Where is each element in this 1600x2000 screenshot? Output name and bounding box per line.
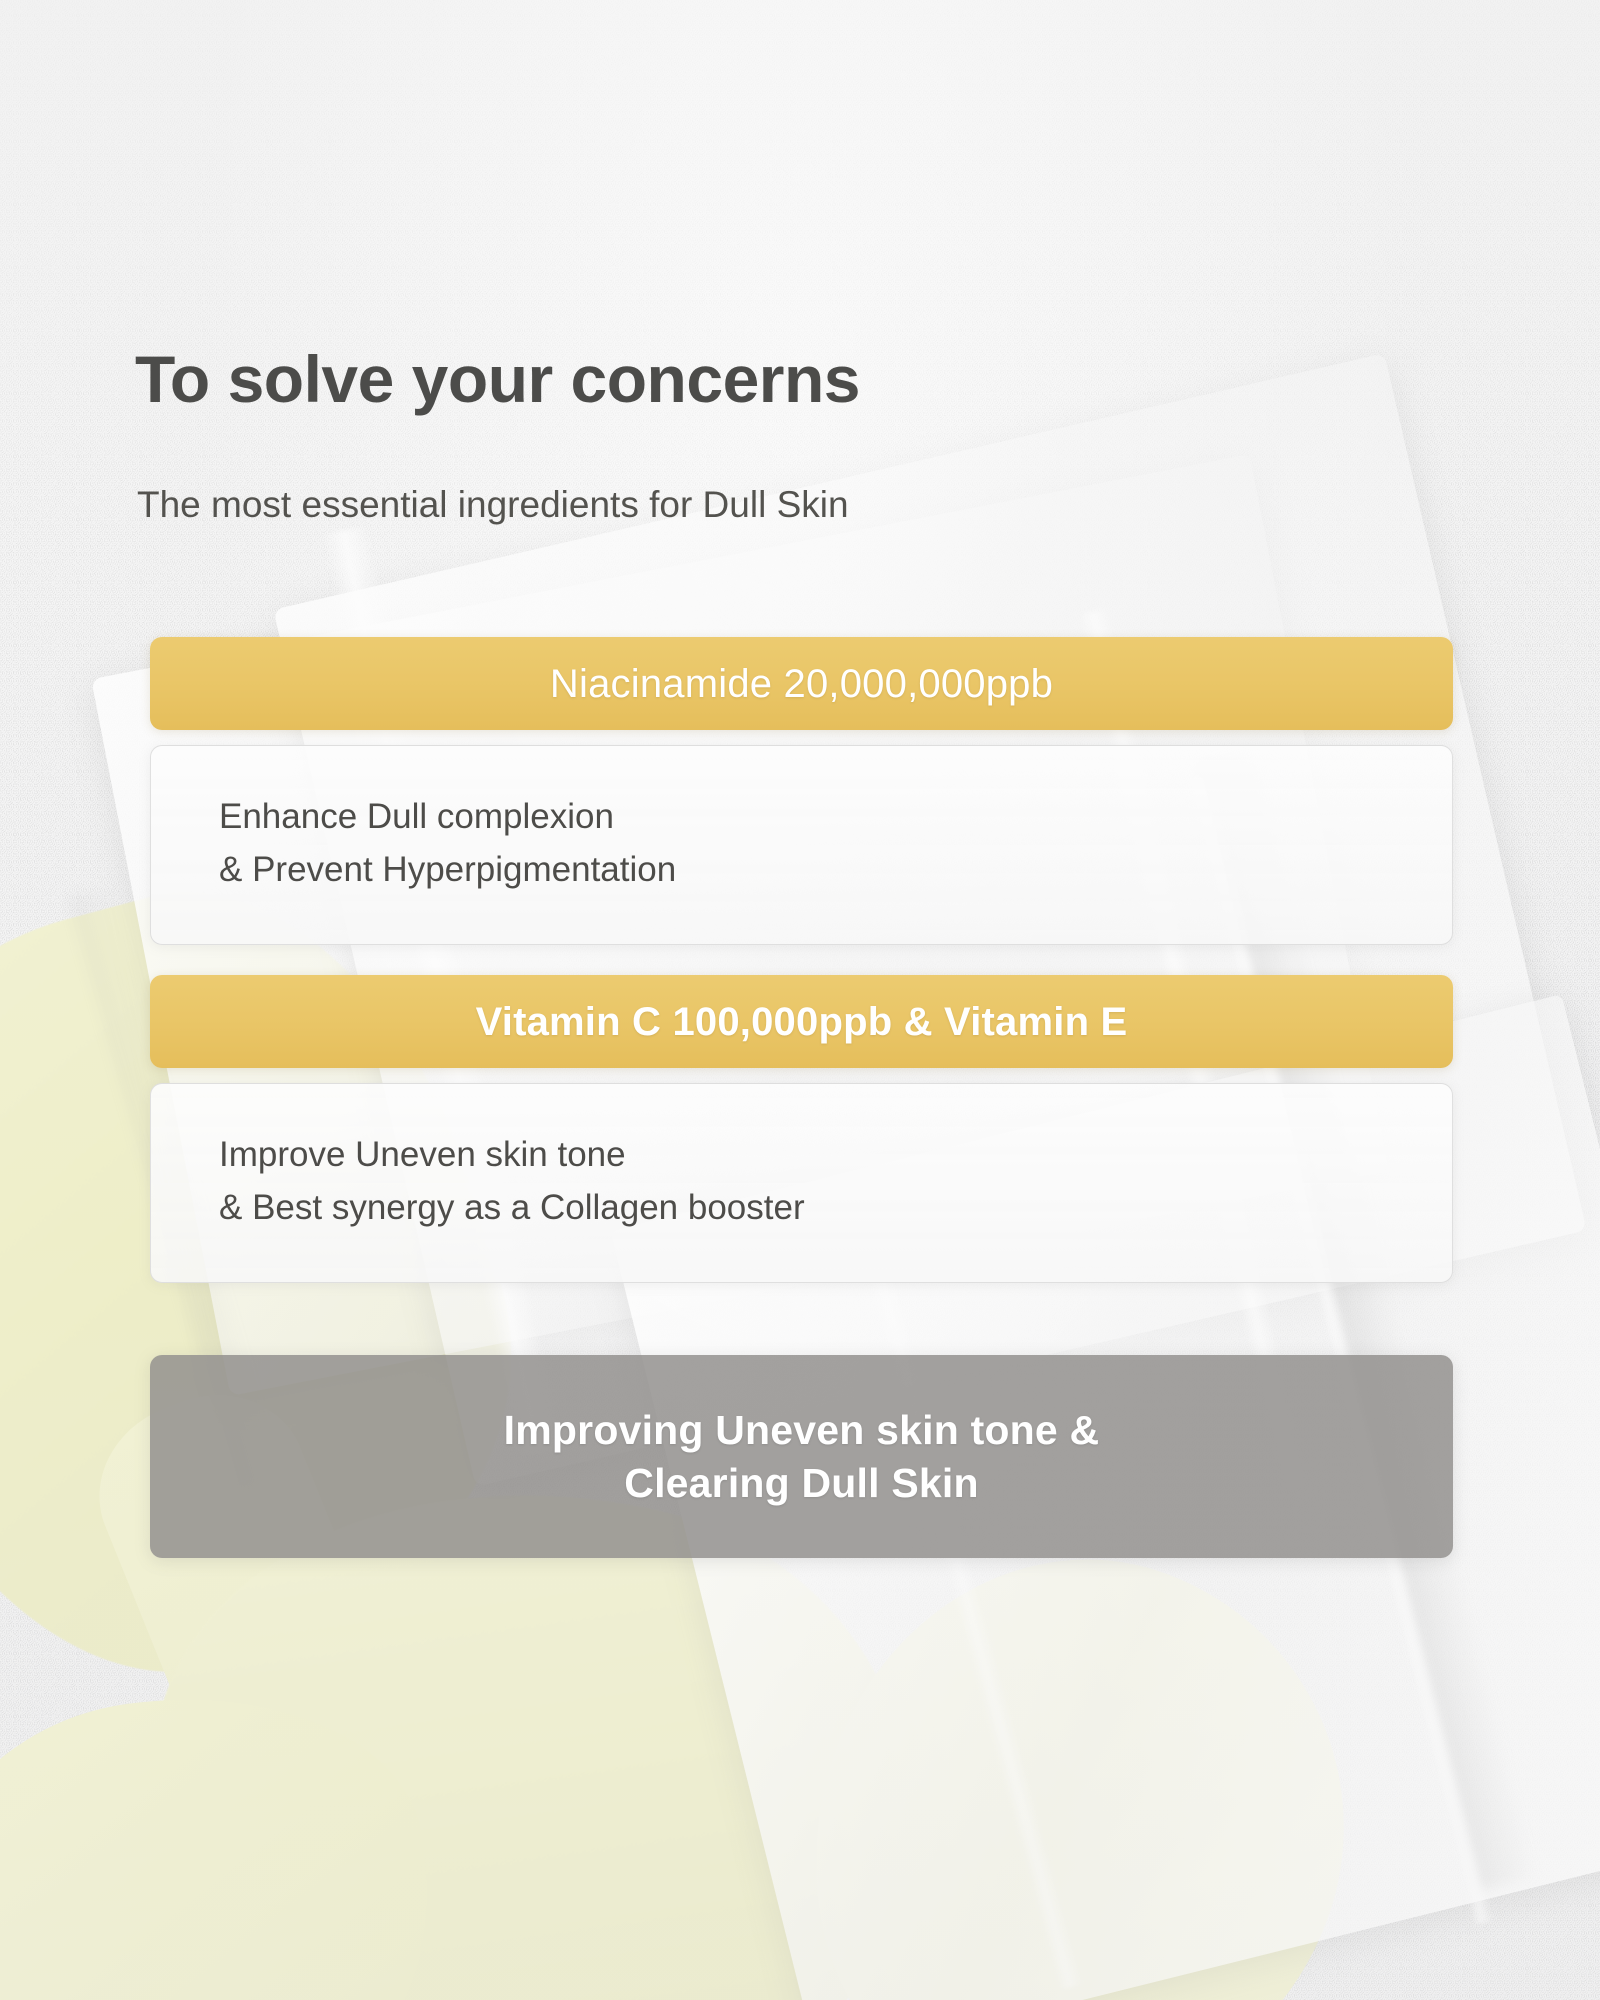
ingredient-banner-niacinamide: Niacinamide 20,000,000ppb: [150, 637, 1453, 730]
page-title: To solve your concerns: [135, 345, 860, 414]
page-subtitle: The most essential ingredients for Dull …: [137, 483, 849, 527]
summary-banner: Improving Uneven skin tone & Clearing Du…: [150, 1355, 1453, 1558]
benefit-line: & Prevent Hyperpigmentation: [219, 843, 1452, 896]
benefit-line: Improve Uneven skin tone: [219, 1128, 1452, 1181]
ingredient-banner-vitamin-c-e: Vitamin C 100,000ppb & Vitamin E: [150, 975, 1453, 1068]
benefit-line: & Best synergy as a Collagen booster: [219, 1181, 1452, 1234]
ingredient-benefits-card-vitamin-c-e: Improve Uneven skin tone & Best synergy …: [150, 1083, 1453, 1283]
ingredient-banner-label: Vitamin C 100,000ppb & Vitamin E: [476, 1000, 1128, 1044]
summary-line-2: Clearing Dull Skin: [624, 1457, 978, 1509]
summary-line-1: Improving Uneven skin tone &: [504, 1404, 1100, 1456]
ingredient-banner-label: Niacinamide 20,000,000ppb: [550, 662, 1053, 706]
product-detail-page: To solve your concerns The most essentia…: [0, 0, 1600, 2000]
content-layer: To solve your concerns The most essentia…: [0, 0, 1600, 2000]
benefit-line: Enhance Dull complexion: [219, 790, 1452, 843]
ingredient-benefits-card-niacinamide: Enhance Dull complexion & Prevent Hyperp…: [150, 745, 1453, 945]
